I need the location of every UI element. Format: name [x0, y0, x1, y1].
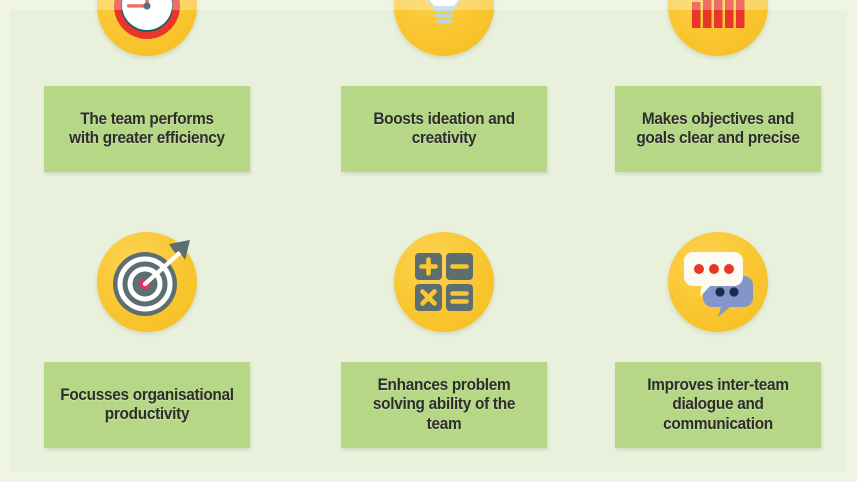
benefit-card-ideation[interactable]: Boosts ideation and creativity	[341, 0, 547, 172]
benefit-card-problem-solving[interactable]: Enhances problem solving ability of the …	[341, 232, 547, 448]
benefit-textbox: Improves inter-team dialogue and communi…	[615, 362, 821, 448]
clock-icon	[97, 0, 197, 56]
benefit-textbox: Enhances problem solving ability of the …	[341, 362, 547, 448]
target-dartboard-icon	[97, 232, 197, 332]
lightbulb-icon	[394, 0, 494, 56]
speech-bubbles-icon-wrapper	[668, 232, 768, 332]
benefit-card-efficiency[interactable]: The team performs with greater efficienc…	[44, 0, 250, 172]
speech-bubbles-icon	[668, 232, 768, 332]
benefit-textbox: The team performs with greater efficienc…	[44, 86, 250, 172]
lightbulb-icon-wrapper	[394, 0, 494, 56]
benefit-label: Improves inter-team dialogue and communi…	[630, 376, 807, 434]
benefit-label: Enhances problem solving ability of the …	[356, 376, 533, 434]
benefit-textbox: Focusses organisational productivity	[44, 362, 250, 448]
benefit-card-communication[interactable]: Improves inter-team dialogue and communi…	[615, 232, 821, 448]
benefit-card-objectives[interactable]: Makes objectives and goals clear and pre…	[615, 0, 821, 172]
benefit-card-productivity[interactable]: Focusses organisational productivity	[44, 232, 250, 448]
benefit-textbox: Boosts ideation and creativity	[341, 86, 547, 172]
bar-chart-growth-icon	[668, 0, 768, 56]
benefit-label: The team performs with greater efficienc…	[59, 110, 236, 149]
benefit-label: Makes objectives and goals clear and pre…	[630, 110, 807, 149]
calculator-icon	[394, 232, 494, 332]
benefit-label: Focusses organisational productivity	[59, 386, 236, 425]
bar-chart-growth-icon-wrapper	[668, 0, 768, 56]
target-dartboard-icon-wrapper	[97, 232, 197, 332]
benefit-label: Boosts ideation and creativity	[356, 110, 533, 149]
infographic-canvas: The team performs with greater efficienc…	[0, 0, 857, 482]
clock-icon-wrapper	[97, 0, 197, 56]
calculator-icon-wrapper	[394, 232, 494, 332]
benefit-textbox: Makes objectives and goals clear and pre…	[615, 86, 821, 172]
